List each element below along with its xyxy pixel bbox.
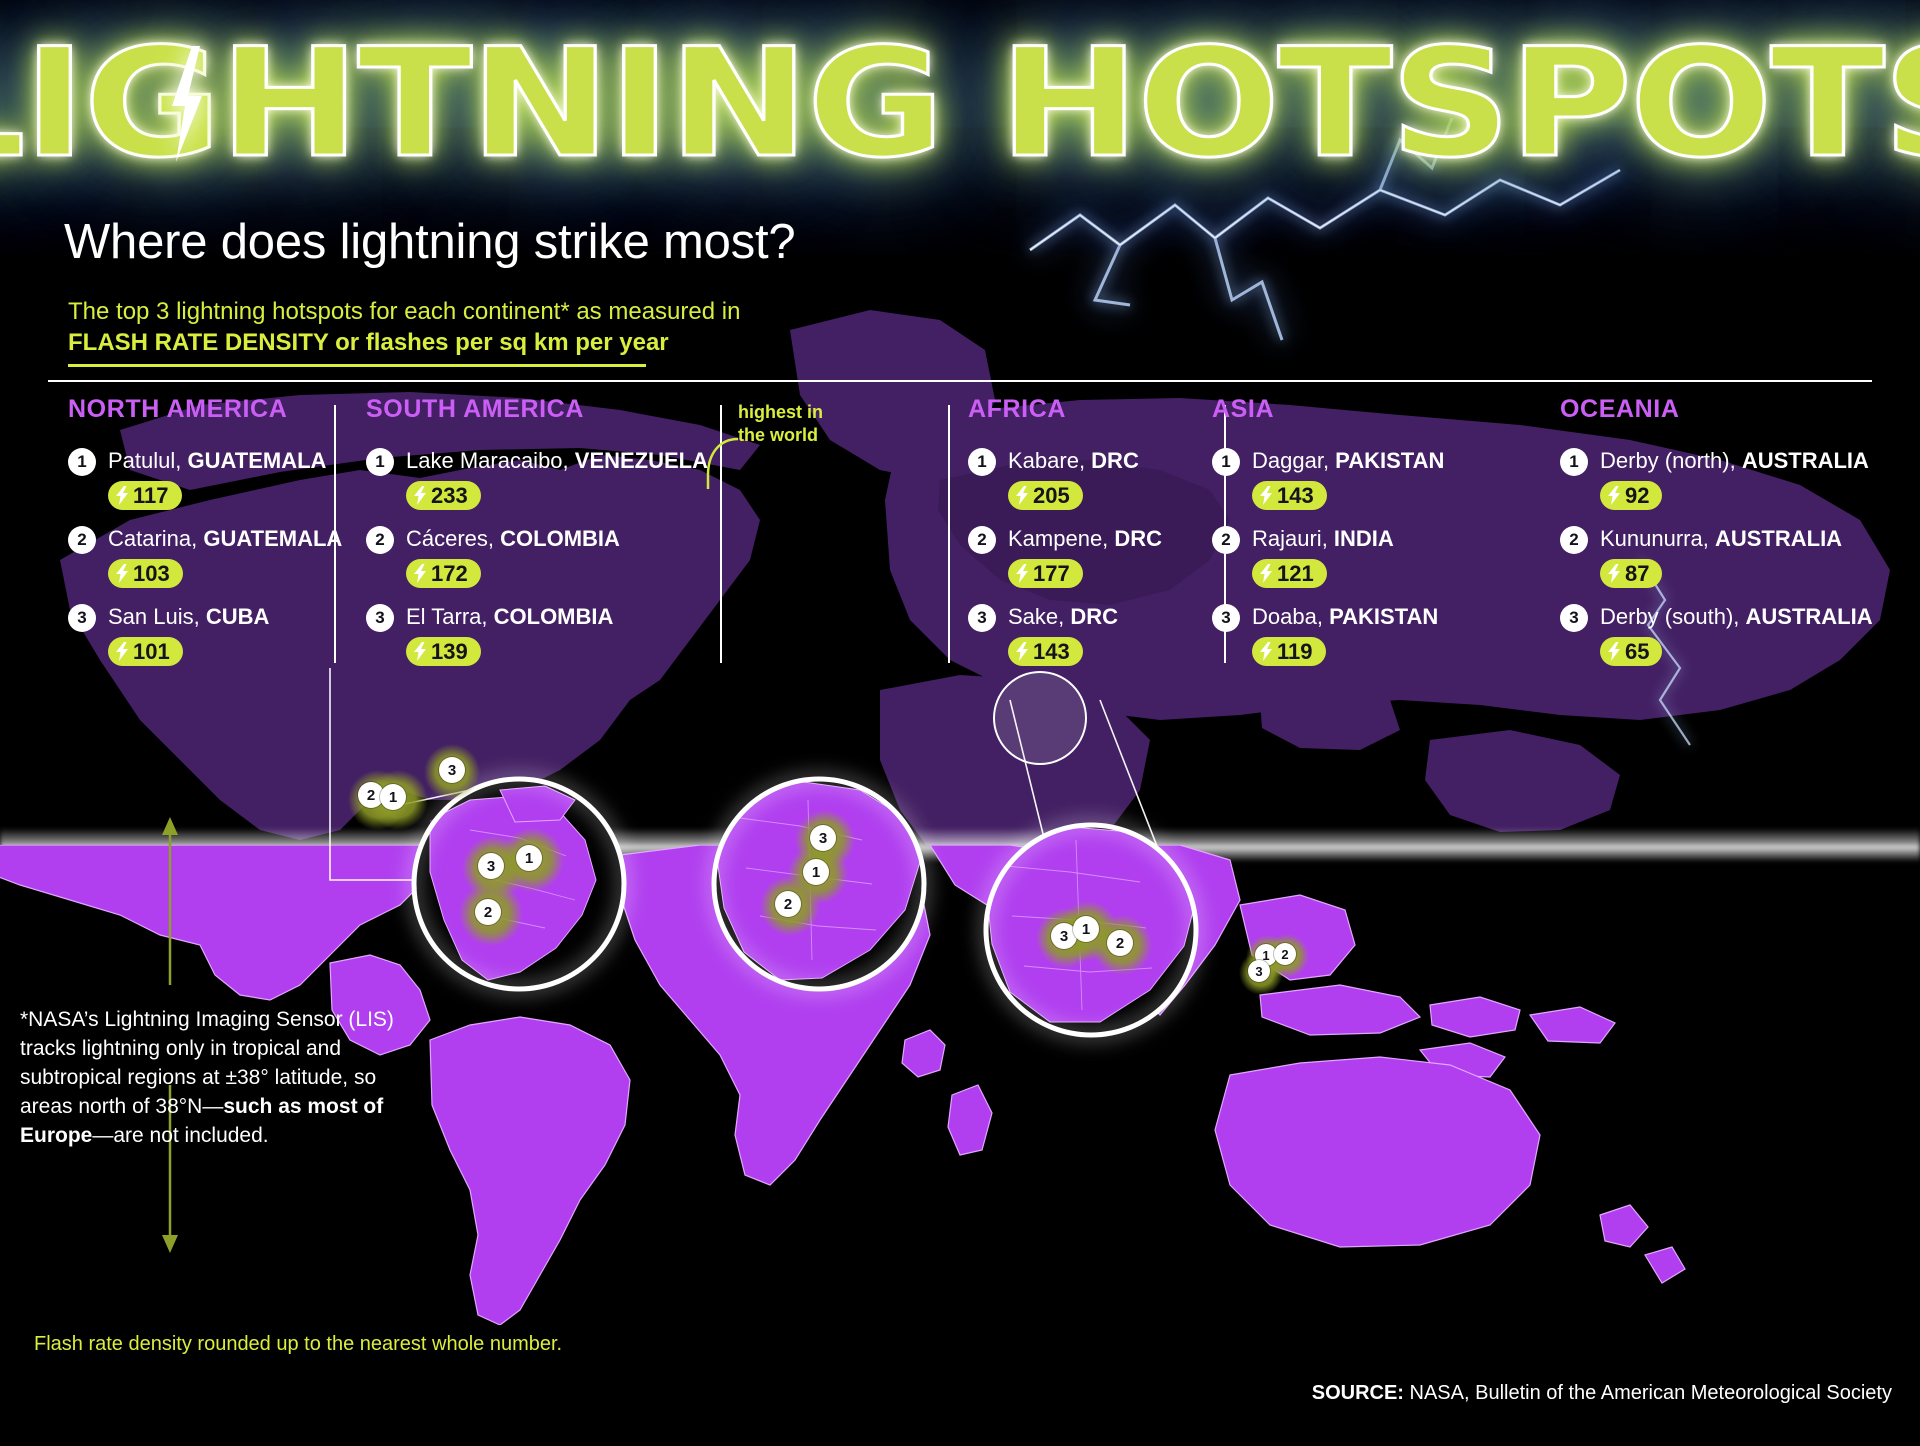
map-marker-na-3[interactable]: 3 — [439, 757, 465, 783]
hotspot-name: Rajauri, INDIA — [1252, 524, 1394, 553]
page-subtitle: Where does lightning strike most? — [64, 214, 795, 270]
hotspot-name: Lake Maracaibo, VENEZUELA — [406, 446, 708, 475]
rank-badge: 3 — [68, 604, 96, 632]
flash-rate-value: 143 — [1277, 483, 1314, 509]
hotspot-name: Daggar, PAKISTAN — [1252, 446, 1444, 475]
flash-rate-value: 205 — [1033, 483, 1070, 509]
map-marker-sa-3[interactable]: 3 — [478, 853, 504, 879]
hotspot-name: Kampene, DRC — [1008, 524, 1162, 553]
map-marker-oc-3[interactable]: 3 — [1248, 960, 1270, 982]
intro-metric-label: FLASH RATE DENSITY — [68, 329, 328, 356]
map-marker-sa-1[interactable]: 1 — [516, 845, 542, 871]
hotspot-name: Sake, DRC — [1008, 602, 1118, 631]
hotspot-name: Derby (south), AUSTRALIA — [1600, 602, 1873, 631]
header-divider — [48, 380, 1872, 382]
flash-rate-pill: 92 — [1600, 481, 1662, 510]
flash-rate-pill: 121 — [1252, 559, 1327, 588]
hotspot-name: San Luis, CUBA — [108, 602, 269, 631]
bolt-icon — [413, 564, 427, 583]
title-block: LIGHTNING HOTSPOTS — [0, 14, 1920, 204]
infographic-root: LIGHTNING HOTSPOTS Where does lightning … — [0, 0, 1920, 1446]
footnote-part-3: —are not included. — [92, 1124, 268, 1147]
flash-rate-pill: 139 — [406, 637, 481, 666]
hotspot-entry[interactable]: 2 Kampene, DRC 177 — [968, 524, 1218, 588]
bolt-icon — [1259, 564, 1273, 583]
map-marker-sa-2[interactable]: 2 — [475, 899, 501, 925]
hotspot-entry[interactable]: 1 Daggar, PAKISTAN 143 — [1212, 446, 1472, 510]
hotspot-entry[interactable]: 1 Derby (north), AUSTRALIA 92 — [1560, 446, 1890, 510]
bolt-icon — [1015, 642, 1029, 661]
bolt-icon — [1259, 486, 1273, 505]
rank-badge: 3 — [1212, 604, 1240, 632]
source-credit: SOURCE: NASA, Bulletin of the American M… — [1312, 1382, 1892, 1405]
lightning-bolt-icon — [166, 44, 206, 164]
rounding-note: Flash rate density rounded up to the nea… — [34, 1333, 562, 1356]
hotspot-entry[interactable]: 2 Cáceres, COLOMBIA 172 — [366, 524, 696, 588]
rank-badge: 1 — [68, 448, 96, 476]
flash-rate-pill: 101 — [108, 637, 183, 666]
hotspot-entry[interactable]: 2 Rajauri, INDIA 121 — [1212, 524, 1472, 588]
rank-badge: 3 — [1560, 604, 1588, 632]
lis-footnote: *NASA’s Lightning Imaging Sensor (LIS) t… — [20, 1005, 420, 1150]
hotspot-name: Kununurra, AUSTRALIA — [1600, 524, 1842, 553]
flash-rate-value: 87 — [1625, 561, 1649, 587]
intro-line-2: FLASH RATE DENSITY or flashes per sq km … — [68, 327, 740, 358]
hotspot-entry-highlighted[interactable]: 1 Lake Maracaibo, VENEZUELA 233 — [366, 446, 696, 510]
hotspot-entry[interactable]: 2 Catarina, GUATEMALA 103 — [68, 524, 318, 588]
map-marker-oc-2[interactable]: 2 — [1274, 943, 1296, 965]
rank-badge: 2 — [1212, 526, 1240, 554]
hotspot-name: Kabare, DRC — [1008, 446, 1139, 475]
flash-rate-value: 177 — [1033, 561, 1070, 587]
bolt-icon — [115, 486, 129, 505]
bolt-icon — [1607, 564, 1621, 583]
column-asia: ASIA 1 Daggar, PAKISTAN 143 2 Rajauri, I… — [1212, 395, 1472, 680]
rank-badge: 3 — [366, 604, 394, 632]
bolt-icon — [1607, 642, 1621, 661]
rank-badge: 3 — [968, 604, 996, 632]
flash-rate-pill: 103 — [108, 559, 183, 588]
rank-badge: 2 — [68, 526, 96, 554]
map-marker-af-2[interactable]: 2 — [775, 891, 801, 917]
hotspot-entry[interactable]: 1 Patulul, GUATEMALA 117 — [68, 446, 318, 510]
intro-line-1: The top 3 lightning hotspots for each co… — [68, 296, 740, 327]
column-separator-3 — [948, 405, 950, 663]
map-marker-af-1[interactable]: 1 — [803, 859, 829, 885]
rank-badge: 1 — [968, 448, 996, 476]
rank-badge: 1 — [366, 448, 394, 476]
flash-rate-pill: 143 — [1008, 637, 1083, 666]
flash-rate-pill: 143 — [1252, 481, 1327, 510]
hotspot-name: El Tarra, COLOMBIA — [406, 602, 613, 631]
column-south-america: SOUTH AMERICA 1 Lake Maracaibo, VENEZUEL… — [366, 395, 696, 680]
rank-badge: 2 — [1560, 526, 1588, 554]
callout-hook-line — [700, 435, 740, 491]
column-africa: AFRICA 1 Kabare, DRC 205 2 Kampene, DRC — [968, 395, 1218, 680]
flash-rate-pill: 177 — [1008, 559, 1083, 588]
rank-badge: 2 — [366, 526, 394, 554]
flash-rate-pill: 87 — [1600, 559, 1662, 588]
hotspot-name: Doaba, PAKISTAN — [1252, 602, 1438, 631]
flash-rate-pill: 117 — [108, 481, 182, 510]
map-marker-as-1[interactable]: 1 — [1073, 916, 1099, 942]
column-heading-north-america: NORTH AMERICA — [68, 395, 318, 424]
column-heading-africa: AFRICA — [968, 395, 1218, 424]
column-north-america: NORTH AMERICA 1 Patulul, GUATEMALA 117 2… — [68, 395, 318, 680]
flash-rate-value: 65 — [1625, 639, 1649, 665]
flash-rate-value: 101 — [133, 639, 170, 665]
column-heading-south-america: SOUTH AMERICA — [366, 395, 696, 424]
intro-underline — [68, 364, 646, 367]
hotspot-entry[interactable]: 3 San Luis, CUBA 101 — [68, 602, 318, 666]
callout-line-1: highest in — [738, 401, 823, 424]
hotspot-name: Derby (north), AUSTRALIA — [1600, 446, 1869, 475]
flash-rate-value: 117 — [133, 483, 169, 509]
source-text: NASA, Bulletin of the American Meteorolo… — [1404, 1382, 1892, 1404]
flash-rate-value: 119 — [1277, 639, 1313, 665]
intro-text: The top 3 lightning hotspots for each co… — [68, 296, 740, 358]
flash-rate-value: 139 — [431, 639, 468, 665]
flash-rate-value: 103 — [133, 561, 170, 587]
callout-line-2: the world — [738, 424, 823, 447]
flash-rate-pill: 233 — [406, 481, 481, 510]
hotspot-name: Cáceres, COLOMBIA — [406, 524, 620, 553]
highest-in-world-callout: highest in the world — [738, 401, 823, 447]
map-marker-af-3[interactable]: 3 — [810, 825, 836, 851]
flash-rate-value: 172 — [431, 561, 468, 587]
flash-rate-pill: 205 — [1008, 481, 1083, 510]
flash-rate-value: 143 — [1033, 639, 1070, 665]
hotspot-entry[interactable]: 1 Kabare, DRC 205 — [968, 446, 1218, 510]
bolt-icon — [413, 486, 427, 505]
flash-rate-value: 92 — [1625, 483, 1649, 509]
source-label: SOURCE: — [1312, 1382, 1404, 1404]
page-title: LIGHTNING HOTSPOTS — [0, 14, 1920, 194]
hotspot-entry[interactable]: 2 Kununurra, AUSTRALIA 87 — [1560, 524, 1890, 588]
rank-badge: 1 — [1212, 448, 1240, 476]
hotspot-entry[interactable]: 3 Derby (south), AUSTRALIA 65 — [1560, 602, 1890, 666]
flash-rate-value: 233 — [431, 483, 468, 509]
hotspot-entry[interactable]: 3 Doaba, PAKISTAN 119 — [1212, 602, 1472, 666]
hotspot-name: Patulul, GUATEMALA — [108, 446, 326, 475]
continent-columns: NORTH AMERICA 1 Patulul, GUATEMALA 117 2… — [0, 395, 1920, 665]
bolt-icon — [1015, 564, 1029, 583]
rank-badge: 1 — [1560, 448, 1588, 476]
map-marker-na-1[interactable]: 1 — [380, 784, 406, 810]
flash-rate-pill: 65 — [1600, 637, 1662, 666]
hotspot-name: Catarina, GUATEMALA — [108, 524, 342, 553]
bolt-icon — [115, 642, 129, 661]
intro-metric-rest: or flashes per sq km per year — [328, 329, 668, 356]
rank-badge: 2 — [968, 526, 996, 554]
bolt-icon — [413, 642, 427, 661]
bolt-icon — [1607, 486, 1621, 505]
flash-rate-pill: 172 — [406, 559, 481, 588]
flash-rate-pill: 119 — [1252, 637, 1326, 666]
bolt-icon — [115, 564, 129, 583]
bolt-icon — [1015, 486, 1029, 505]
bolt-icon — [1259, 642, 1273, 661]
map-marker-as-2[interactable]: 2 — [1107, 930, 1133, 956]
column-heading-oceania: OCEANIA — [1560, 395, 1890, 424]
flash-rate-value: 121 — [1277, 561, 1314, 587]
hotspot-entry[interactable]: 3 Sake, DRC 143 — [968, 602, 1218, 666]
hotspot-entry[interactable]: 3 El Tarra, COLOMBIA 139 — [366, 602, 696, 666]
column-heading-asia: ASIA — [1212, 395, 1472, 424]
column-oceania: OCEANIA 1 Derby (north), AUSTRALIA 92 2 … — [1560, 395, 1890, 680]
